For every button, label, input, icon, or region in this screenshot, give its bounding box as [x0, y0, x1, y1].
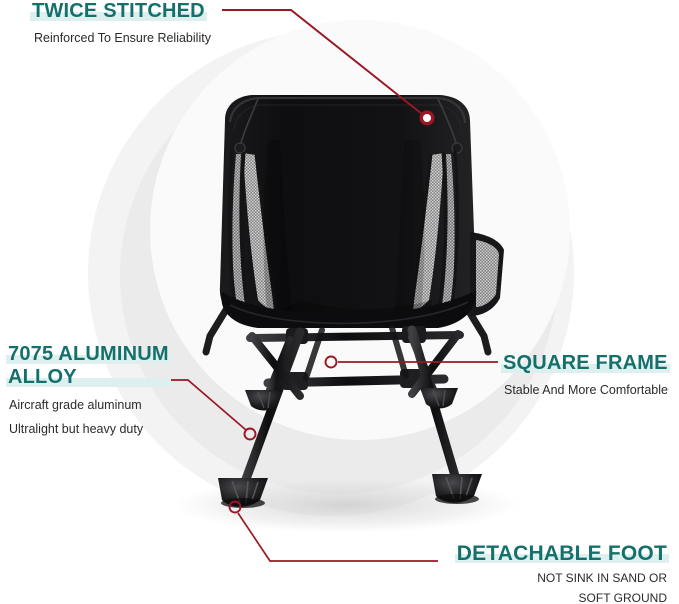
callout-twice-stitched: TWICE STITCHED Reinforced To Ensure Reli… [32, 0, 211, 46]
callout-dot-detachable-foot [230, 502, 241, 513]
product-feature-infographic: TWICE STITCHED Reinforced To Ensure Reli… [0, 0, 679, 604]
callout-twice-stitched-subtitle: Reinforced To Ensure Reliability [34, 31, 211, 46]
callout-aluminum-alloy-subtitle-line2: Ultralight but heavy duty [9, 422, 169, 437]
callout-aluminum-alloy-title-line2: ALLOY [8, 366, 169, 389]
callout-aluminum-alloy-title-line1: 7075 ALUMINUM [8, 343, 169, 366]
callout-aluminum-alloy-subtitle-line1: Aircraft grade aluminum [9, 398, 169, 413]
callout-square-frame: SQUARE FRAME Stable And More Comfortable [503, 352, 668, 398]
callout-square-frame-subtitle: Stable And More Comfortable [504, 383, 668, 398]
callout-aluminum-alloy: 7075 ALUMINUM ALLOY Aircraft grade alumi… [8, 343, 169, 437]
callout-twice-stitched-title: TWICE STITCHED [32, 0, 205, 23]
callout-detachable-foot-subtitle-line2: SOFT GROUND [457, 591, 667, 604]
callout-detachable-foot-title: DETACHABLE FOOT [457, 542, 667, 565]
callout-detachable-foot: DETACHABLE FOOT NOT SINK IN SAND OR SOFT… [457, 542, 667, 604]
callout-square-frame-title: SQUARE FRAME [503, 352, 668, 375]
leader-line-detachable-foot [238, 513, 438, 561]
callout-detachable-foot-subtitle-line1: NOT SINK IN SAND OR [457, 571, 667, 585]
